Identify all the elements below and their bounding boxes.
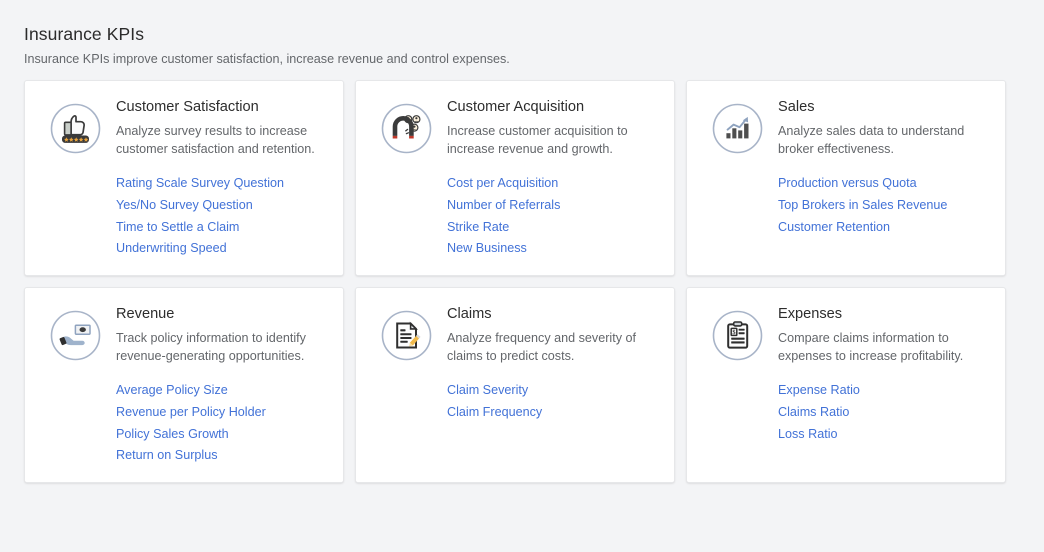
kpi-link[interactable]: Claim Severity: [447, 380, 528, 402]
card-description: Increase customer acquisition to increas…: [447, 122, 647, 159]
thumbs-up-rating-icon: [49, 102, 102, 155]
card-title: Revenue: [116, 306, 327, 324]
document-pencil-icon: [380, 309, 433, 362]
hand-holding-money-icon: [49, 309, 102, 362]
kpi-card-grid: Customer Satisfaction Analyze survey res…: [24, 80, 1004, 483]
card-title: Claims: [447, 306, 658, 324]
card-body: Expenses Compare claims information to e…: [774, 306, 989, 445]
kpi-link[interactable]: Customer Retention: [778, 216, 890, 238]
kpi-link[interactable]: Time to Settle a Claim: [116, 216, 239, 238]
card-body: Customer Acquisition Increase customer a…: [443, 99, 658, 260]
card-description: Analyze sales data to understand broker …: [778, 122, 978, 159]
kpi-link[interactable]: Average Policy Size: [116, 380, 228, 402]
kpi-link[interactable]: Claims Ratio: [778, 401, 849, 423]
kpi-link[interactable]: Revenue per Policy Holder: [116, 401, 266, 423]
insurance-kpis-page: Insurance KPIs Insurance KPIs improve cu…: [0, 0, 1044, 483]
kpi-link[interactable]: Number of Referrals: [447, 194, 560, 216]
kpi-link[interactable]: Top Brokers in Sales Revenue: [778, 194, 947, 216]
page-subtitle: Insurance KPIs improve customer satisfac…: [24, 52, 1004, 66]
kpi-card-expenses[interactable]: $ Expenses Compare claims information to…: [686, 287, 1006, 483]
kpi-link[interactable]: Policy Sales Growth: [116, 423, 229, 445]
kpi-link[interactable]: Cost per Acquisition: [447, 173, 558, 195]
kpi-card-customer-satisfaction[interactable]: Customer Satisfaction Analyze survey res…: [24, 80, 344, 276]
card-description: Analyze frequency and severity of claims…: [447, 329, 647, 366]
invoice-dollar-icon: $: [711, 309, 764, 362]
card-links: Expense Ratio Claims Ratio Loss Ratio: [778, 380, 989, 445]
kpi-link[interactable]: Return on Surplus: [116, 445, 218, 467]
kpi-link[interactable]: Production versus Quota: [778, 173, 917, 195]
card-body: Claims Analyze frequency and severity of…: [443, 306, 658, 423]
card-description: Analyze survey results to increase custo…: [116, 122, 316, 159]
kpi-link[interactable]: Underwriting Speed: [116, 238, 227, 260]
kpi-link[interactable]: Rating Scale Survey Question: [116, 173, 284, 195]
card-links: Cost per Acquisition Number of Referrals…: [447, 173, 658, 260]
kpi-card-sales[interactable]: Sales Analyze sales data to understand b…: [686, 80, 1006, 276]
magnet-customers-icon: [380, 102, 433, 155]
card-title: Customer Acquisition: [447, 99, 658, 117]
kpi-link[interactable]: Yes/No Survey Question: [116, 194, 253, 216]
kpi-link[interactable]: New Business: [447, 238, 527, 260]
kpi-card-claims[interactable]: Claims Analyze frequency and severity of…: [355, 287, 675, 483]
card-links: Rating Scale Survey Question Yes/No Surv…: [116, 173, 327, 260]
kpi-link[interactable]: Claim Frequency: [447, 401, 542, 423]
page-title: Insurance KPIs: [24, 24, 1004, 45]
card-links: Claim Severity Claim Frequency: [447, 380, 658, 424]
kpi-link[interactable]: Expense Ratio: [778, 380, 860, 402]
card-title: Sales: [778, 99, 989, 117]
kpi-link[interactable]: Strike Rate: [447, 216, 509, 238]
kpi-card-customer-acquisition[interactable]: Customer Acquisition Increase customer a…: [355, 80, 675, 276]
kpi-card-revenue[interactable]: Revenue Track policy information to iden…: [24, 287, 344, 483]
card-body: Customer Satisfaction Analyze survey res…: [112, 99, 327, 260]
card-links: Average Policy Size Revenue per Policy H…: [116, 380, 327, 467]
card-title: Customer Satisfaction: [116, 99, 327, 117]
card-description: Compare claims information to expenses t…: [778, 329, 978, 366]
bar-chart-trend-up-icon: [711, 102, 764, 155]
card-body: Revenue Track policy information to iden…: [112, 306, 327, 467]
card-title: Expenses: [778, 306, 989, 324]
card-links: Production versus Quota Top Brokers in S…: [778, 173, 989, 238]
card-body: Sales Analyze sales data to understand b…: [774, 99, 989, 238]
kpi-link[interactable]: Loss Ratio: [778, 423, 838, 445]
card-description: Track policy information to identify rev…: [116, 329, 316, 366]
